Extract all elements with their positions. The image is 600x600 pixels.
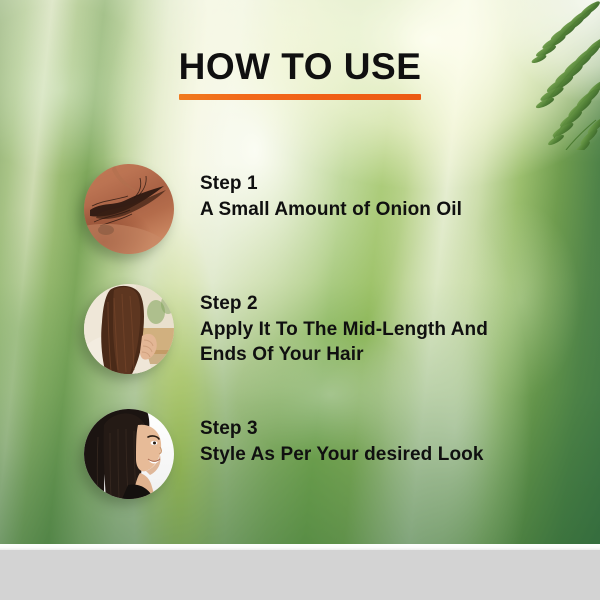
smiling-woman-shape [84, 409, 174, 499]
step-3-text: Step 3 Style As Per Your desired Look [200, 400, 484, 467]
step-2-thumbnail-wrap [78, 280, 170, 372]
step-2-label: Step 2 [200, 291, 530, 317]
step-item-1: Step 1 A Small Amount of Onion Oil [78, 155, 462, 252]
how-to-use-poster: HOW TO USE [0, 0, 600, 600]
step-item-2: Step 2 Apply It To The Mid-Length And En… [78, 275, 530, 372]
steps-list: Step 1 A Small Amount of Onion Oil [0, 0, 600, 544]
step-1-label: Step 1 [200, 171, 462, 197]
step-1-thumbnail-wrap [78, 160, 170, 252]
styled-hair-result-photo [84, 409, 174, 499]
step-item-3: Step 3 Style As Per Your desired Look [78, 400, 484, 497]
step-1-description: A Small Amount of Onion Oil [200, 197, 462, 223]
step-3-description: Style As Per Your desired Look [200, 442, 484, 468]
footer-bar [0, 550, 600, 600]
applying-oil-to-hair-photo [84, 284, 174, 374]
step-2-description: Apply It To The Mid-Length And Ends Of Y… [200, 317, 530, 368]
step-1-text: Step 1 A Small Amount of Onion Oil [200, 155, 462, 222]
hair-strands-shape [84, 164, 174, 254]
step-3-label: Step 3 [200, 416, 484, 442]
step-3-thumbnail-wrap [78, 405, 170, 497]
step-2-text: Step 2 Apply It To The Mid-Length And En… [200, 275, 530, 368]
onion-oil-in-palm-photo [84, 164, 174, 254]
woman-back-hair-shape [84, 284, 174, 374]
